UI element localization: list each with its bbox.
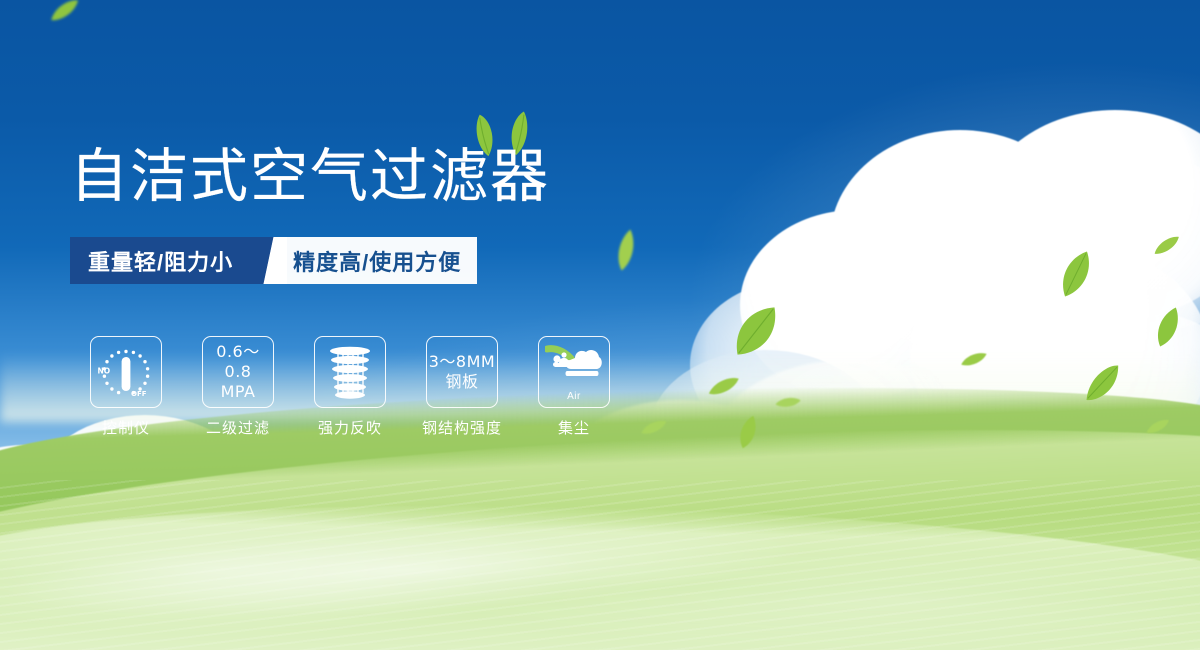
pressure-line-2: MPA: [203, 382, 273, 402]
subtitle-left: 重量轻/阻力小: [70, 237, 253, 284]
feature-label: 强力反吹: [318, 417, 382, 438]
feature-list: NO OFF 控制仪 0.6～0.8 MPA 二级过滤: [70, 336, 630, 438]
filter-coil-icon: [314, 336, 386, 408]
page-title: 自洁式空气过滤器: [70, 144, 550, 208]
feature-item-steel-strength[interactable]: 3～8MM 钢板 钢结构强度: [406, 336, 518, 438]
hero-banner: 自洁式空气过滤器 重量轻/阻力小 精度高/使用方便: [0, 0, 1200, 650]
steel-plate-icon: 3～8MM 钢板: [426, 336, 498, 408]
pressure-line-1: 0.6～0.8: [203, 342, 273, 382]
feature-label: 二级过滤: [206, 417, 270, 438]
subtitle-right: 精度高/使用方便: [287, 237, 477, 284]
pressure-value-icon: 0.6～0.8 MPA: [202, 336, 274, 408]
air-cloud-icon: Air: [538, 336, 610, 408]
svg-text:OFF: OFF: [131, 390, 147, 398]
feature-label: 控制仪: [102, 417, 150, 438]
steel-line-1: 3～8MM: [429, 352, 495, 372]
subtitle-slash-divider: [253, 237, 287, 284]
feature-item-two-stage-filter[interactable]: 0.6～0.8 MPA 二级过滤: [182, 336, 294, 438]
feature-item-dust-collection[interactable]: Air 集尘: [518, 336, 630, 438]
feature-label: 钢结构强度: [422, 417, 502, 438]
gauge-dial-icon: NO OFF: [90, 336, 162, 408]
subtitle-banner: 重量轻/阻力小 精度高/使用方便: [70, 237, 477, 284]
air-label: Air: [539, 391, 609, 402]
feature-item-controller[interactable]: NO OFF 控制仪: [70, 336, 182, 438]
steel-line-2: 钢板: [429, 372, 495, 392]
svg-text:NO: NO: [98, 367, 111, 376]
feature-label: 集尘: [558, 417, 590, 438]
feature-item-strong-backblow[interactable]: 强力反吹: [294, 336, 406, 438]
